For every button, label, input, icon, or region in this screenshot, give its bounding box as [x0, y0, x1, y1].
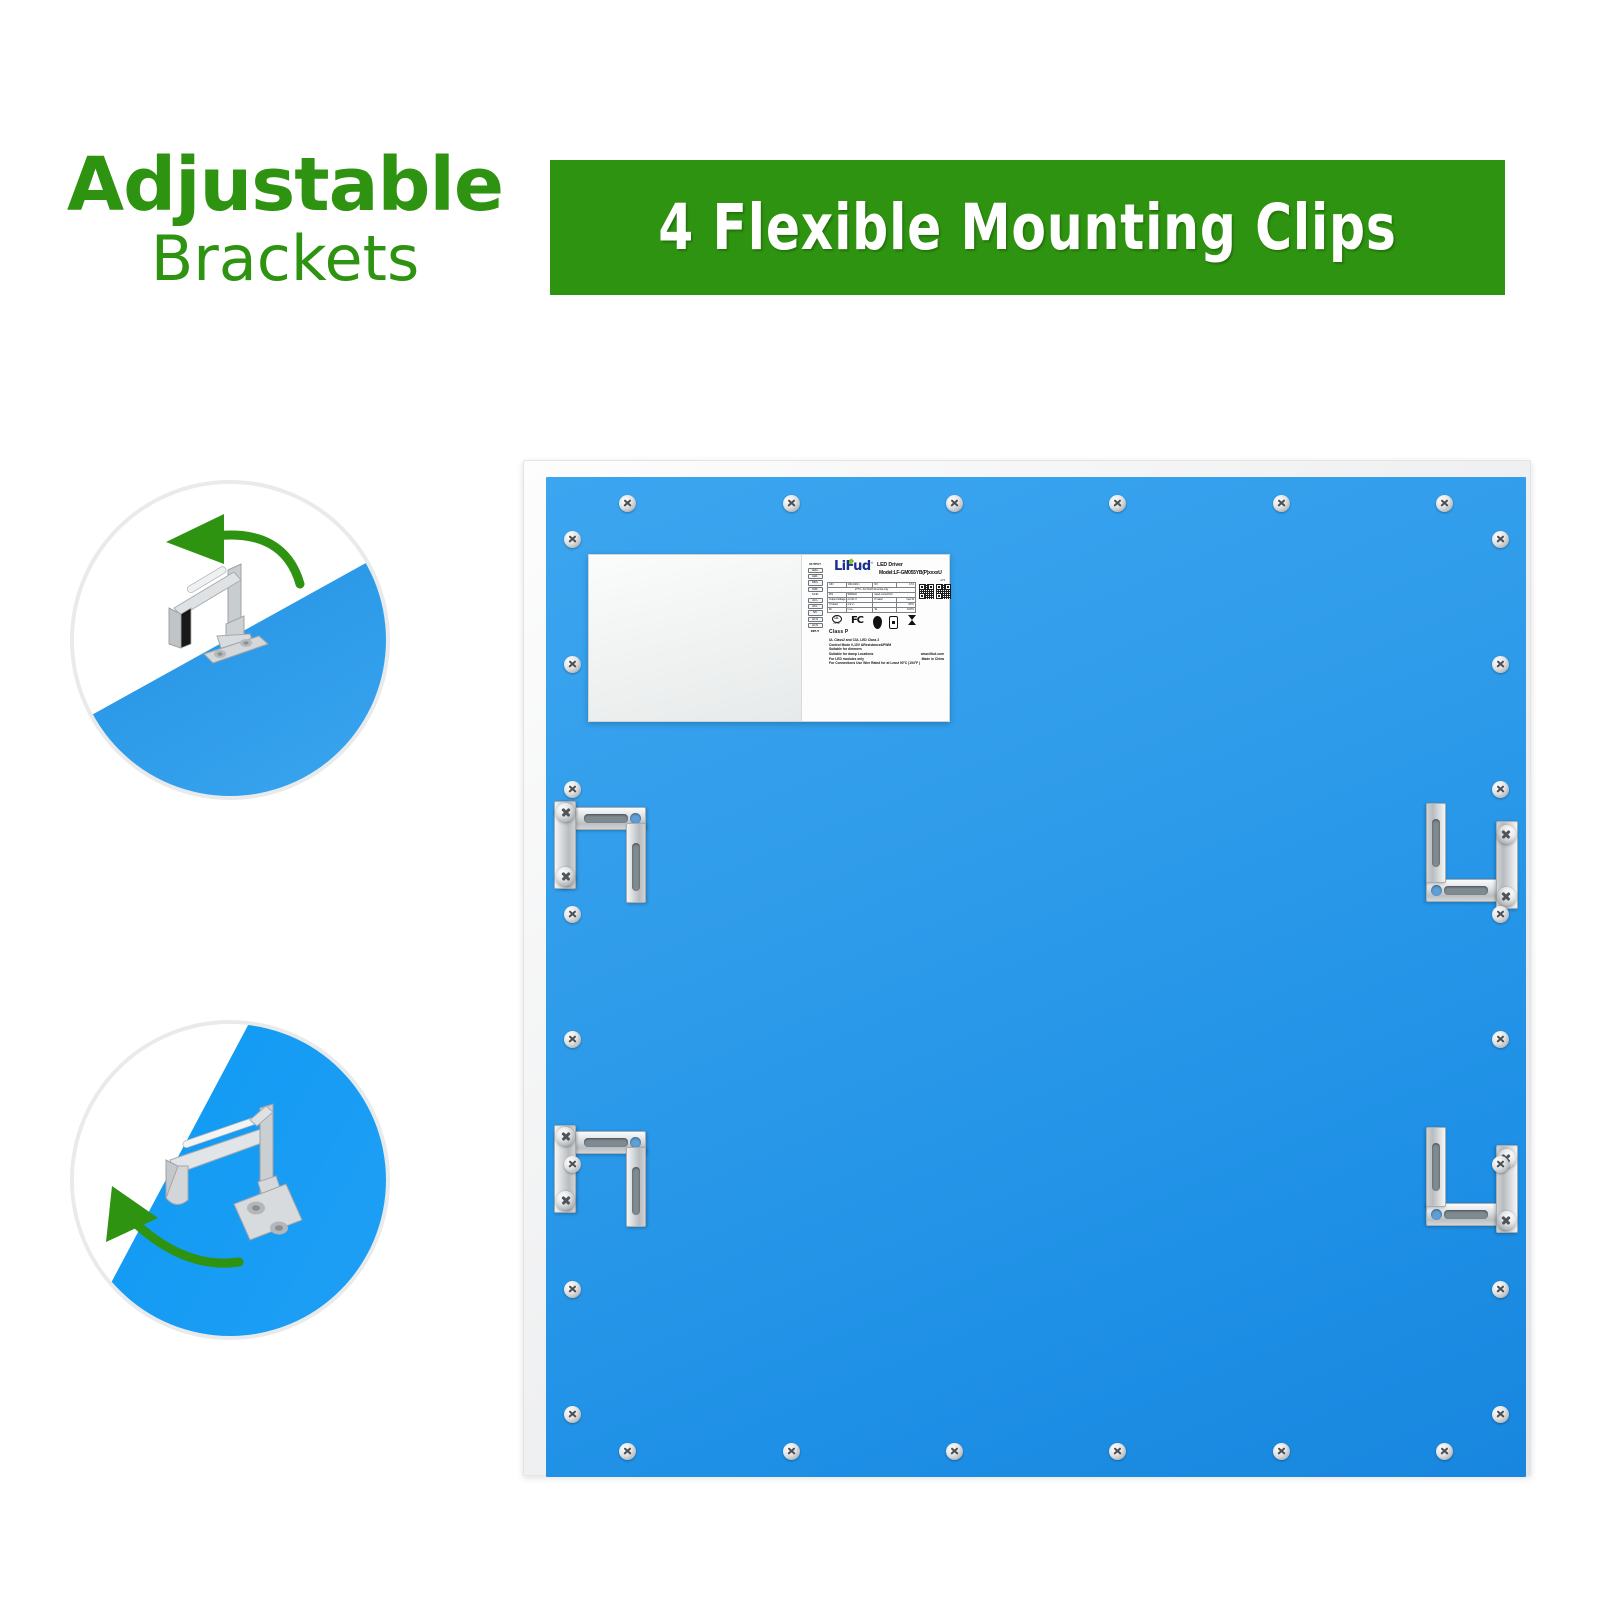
driver-product-type: LED Driver: [877, 562, 903, 568]
mounting-clip-bottom-left: [554, 1131, 646, 1227]
panel-rivet: [783, 1443, 800, 1460]
note-text: For Connections Use Wire Rated for at Le…: [829, 661, 920, 666]
ul-listed-icon: UL LISTED: [831, 615, 842, 628]
panel-rivet: [1273, 495, 1290, 512]
qr-code-icon: [919, 584, 934, 599]
bracket-illustration-extended: [74, 1024, 386, 1336]
panel-rivet: [564, 656, 581, 673]
clip-slot: [1444, 1210, 1488, 1219]
spec-cell: 100°C: [896, 607, 916, 612]
panel-rivet: [619, 1443, 636, 1460]
panel-rivet: [1492, 1281, 1509, 1298]
panel-rivet: [564, 781, 581, 798]
clip-screw: [556, 803, 575, 822]
registered-trademark-icon: ®: [871, 562, 873, 566]
panel-rivet: [1109, 1443, 1126, 1460]
bracket-metal-body: [166, 1104, 282, 1205]
spec-cell: in A~: [846, 607, 873, 612]
panel-rivet: [564, 1406, 581, 1423]
terminal-pad: AC L: [808, 598, 823, 603]
bracket-metal-body: [169, 564, 254, 648]
qr-eye: [936, 593, 942, 599]
clip-screw: [1497, 1211, 1516, 1230]
panel-rivet: [1492, 906, 1509, 923]
driver-enclosure-blank: [589, 555, 802, 721]
spec-row: Ith in A~ Ta 100°C: [828, 607, 916, 612]
panel-rivet: [564, 906, 581, 923]
headline-secondary: Brackets: [55, 228, 515, 290]
panel-rivet: [1273, 1443, 1290, 1460]
terminal-pad: N/C: [808, 610, 823, 615]
clip-hole: [1431, 1209, 1442, 1220]
panel-rivet: [619, 495, 636, 512]
panel-rivet: [783, 495, 800, 512]
note-text-right: Made in China: [922, 657, 944, 662]
terminal-output-heading: OUTPUT: [805, 563, 825, 567]
terminal-gnd-label: /GND: [805, 593, 825, 596]
qr-eye: [945, 584, 951, 590]
clip-hole: [1431, 885, 1442, 896]
driver-terminal-strip: OUTPUT LED+ LED- DIM+ DIM- /GND AC L AC …: [805, 563, 825, 719]
panel-rivet: [1492, 781, 1509, 798]
panel-rivet: [564, 1156, 581, 1173]
panel-back-face: OUTPUT LED+ LED- DIM+ DIM- /GND AC L AC …: [546, 477, 1526, 1477]
mounting-clip-top-left: [554, 807, 646, 903]
detail-circle-bracket-extended: [70, 1020, 390, 1340]
panel-rivet: [1492, 656, 1509, 673]
bracket-illustration-folded: [74, 484, 386, 796]
clip-slot: [1432, 1143, 1440, 1191]
detail-circle-bracket-folded: [70, 480, 390, 800]
panel-rivet: [564, 531, 581, 548]
clip-screw: [556, 1191, 575, 1210]
terminal-pad: LED+: [808, 568, 823, 573]
qr-eye: [919, 593, 925, 599]
feature-banner-label: 4 Flexible Mounting Clips: [658, 191, 1396, 264]
terminal-pad: AC N: [808, 617, 823, 622]
hourglass-icon: [907, 615, 916, 627]
driver-spec-zone: UIN 100-240V~ IIN 0.7A 277V~ For North A…: [827, 582, 946, 613]
panel-rivet: [1492, 1031, 1509, 1048]
headline-primary: Adjustable: [55, 148, 515, 222]
driver-brand-row: LiFud ® LED Driver Model:LF-GM055YB(P)xx…: [827, 559, 946, 579]
panel-rivet: [1109, 495, 1126, 512]
panel-rivet: [1436, 495, 1453, 512]
header-area: Adjustable Brackets 4 Flexible Mounting …: [0, 0, 1600, 330]
panel-rivet: [1492, 1156, 1509, 1173]
terminal-pad: LED-: [808, 574, 823, 579]
headline-block: Adjustable Brackets: [55, 148, 515, 290]
panel-rivet: [946, 1443, 963, 1460]
panel-rivet: [946, 495, 963, 512]
feature-banner: 4 Flexible Mounting Clips: [550, 160, 1505, 295]
spec-cell: Ith: [828, 607, 847, 612]
clip-slot: [584, 1138, 628, 1147]
spec-cell: Ta: [873, 607, 896, 612]
qr-eye: [936, 584, 942, 590]
mounting-clip-bottom-right: [1426, 1131, 1518, 1227]
mounting-clip-top-right: [1426, 807, 1518, 903]
driver-spec-table: UIN 100-240V~ IIN 0.7A 277V~ For North A…: [827, 582, 916, 613]
driver-spec-label: OUTPUT LED+ LED- DIM+ DIM- /GND AC L AC …: [802, 555, 949, 721]
panel-rivet: [564, 1031, 581, 1048]
detail-circle-bottom-inner: [74, 1024, 386, 1336]
qr-identifier: ●73: [940, 579, 945, 582]
qr-eye: [928, 584, 934, 590]
driver-qr-zone: ●73: [919, 582, 946, 613]
qr-eye: [919, 584, 925, 590]
clip-slot: [632, 843, 640, 891]
driver-notes-block: UL Class2 and CUL LED Class 2 Control Mo…: [829, 638, 944, 666]
bracket-foot-plate: [234, 1184, 302, 1240]
note-row: For Connections Use Wire Rated for at Le…: [829, 661, 944, 666]
driver-label-body: LiFud ® LED Driver Model:LF-GM055YB(P)xx…: [827, 559, 946, 719]
qr-code-icon: [936, 584, 951, 599]
panel-rivet: [1436, 1443, 1453, 1460]
clip-slot: [584, 814, 628, 823]
clip-screw: [1497, 825, 1516, 844]
clip-screw: [556, 867, 575, 886]
terminal-pad: DIM+: [808, 580, 823, 585]
clip-screw: [1497, 887, 1516, 906]
detail-circle-top-inner: [74, 484, 386, 796]
led-driver-module: OUTPUT LED+ LED- DIM+ DIM- /GND AC L AC …: [588, 554, 950, 722]
panel-frame: OUTPUT LED+ LED- DIM+ DIM- /GND AC L AC …: [523, 460, 1531, 1476]
led-panel-product: OUTPUT LED+ LED- DIM+ DIM- /GND AC L AC …: [515, 452, 1545, 1490]
damp-location-drop-icon: [873, 616, 882, 629]
terminal-input-heading: INPUT: [805, 630, 825, 634]
clip-slot: [632, 1167, 640, 1215]
terminal-pad: AC L: [808, 604, 823, 609]
panel-rivet: [1492, 1406, 1509, 1423]
clip-slot: [1444, 886, 1488, 895]
panel-rivet: [564, 1281, 581, 1298]
driver-model-number: Model:LF-GM055YB(P)xxxxU: [879, 571, 942, 577]
terminal-pad: AC N: [808, 623, 823, 628]
driver-certification-row: UL LISTED FC: [829, 615, 948, 629]
clip-screw: [556, 1127, 575, 1146]
driver-class-rating: Class P: [829, 630, 848, 636]
enclosure-box-icon: [889, 616, 898, 629]
clip-slot: [1432, 819, 1440, 867]
panel-rivet: [1492, 531, 1509, 548]
fcc-icon: FC: [851, 616, 863, 626]
